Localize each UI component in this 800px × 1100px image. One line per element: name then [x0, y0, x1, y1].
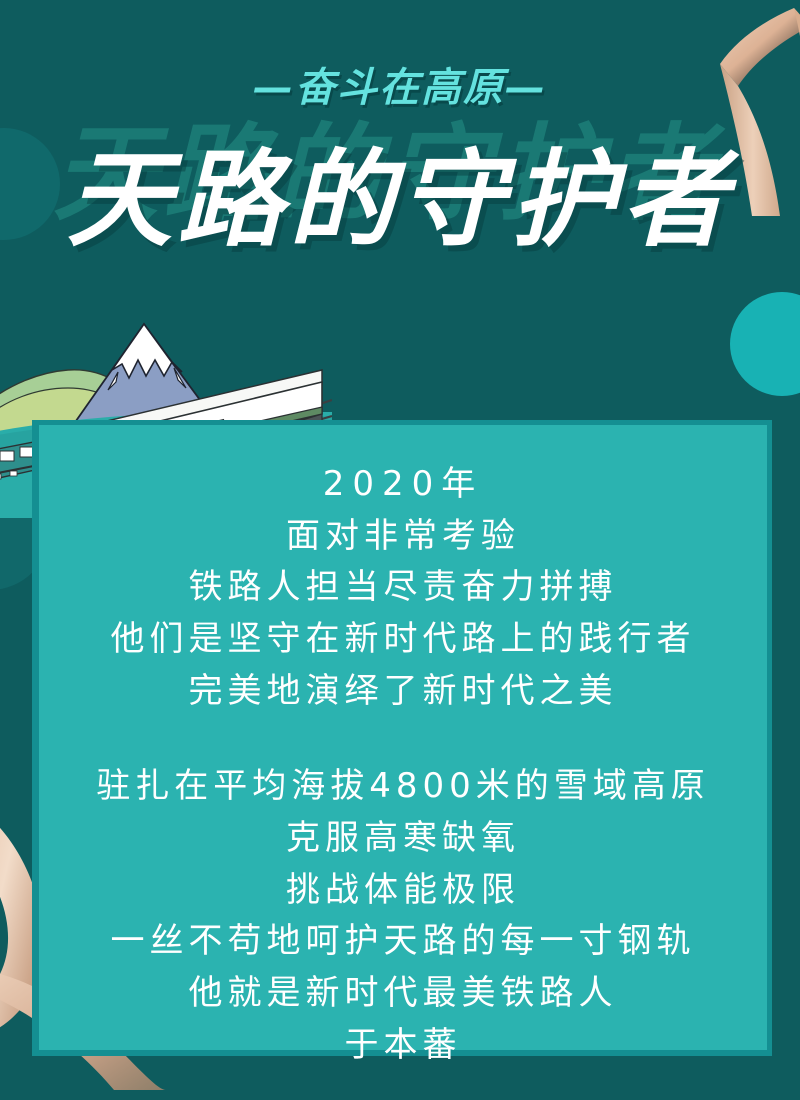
- body-line: 挑战体能极限: [55, 865, 751, 917]
- body-line: 他就是新时代最美铁路人: [55, 968, 751, 1020]
- body-line: 面对非常考验: [55, 511, 751, 563]
- headline-block: —奋斗在高原— 天路的守护者 天路的守护者: [0, 0, 800, 300]
- body-line: 2020年: [55, 459, 751, 511]
- body-line: 他们是坚守在新时代路上的践行者: [55, 614, 751, 666]
- decor-circle-right-mid: [730, 292, 800, 396]
- body-line-person-name: 于本蕃: [55, 1020, 751, 1072]
- body-line: 铁路人担当尽责奋力拼搏: [55, 562, 751, 614]
- body-line: 驻扎在平均海拔4800米的雪域高原: [55, 761, 751, 813]
- body-line: 克服高寒缺氧: [55, 813, 751, 865]
- page-title: 天路的守护者: [0, 140, 800, 261]
- poster-root: —奋斗在高原— 天路的守护者 天路的守护者: [0, 0, 800, 1100]
- paragraph-2: 驻扎在平均海拔4800米的雪域高原 克服高寒缺氧 挑战体能极限 一丝不苟地呵护天…: [55, 761, 751, 1071]
- body-line: 一丝不苟地呵护天路的每一寸钢轨: [55, 916, 751, 968]
- poster-subtitle: —奋斗在高原—: [0, 68, 800, 108]
- body-line: 完美地演绎了新时代之美: [55, 666, 751, 718]
- body-text-card: 2020年 面对非常考验 铁路人担当尽责奋力拼搏 他们是坚守在新时代路上的践行者…: [32, 420, 772, 1056]
- paragraph-1: 2020年 面对非常考验 铁路人担当尽责奋力拼搏 他们是坚守在新时代路上的践行者…: [55, 459, 751, 717]
- poster-title-wrap: 天路的守护者 天路的守护者: [0, 140, 800, 280]
- body-text-content: 2020年 面对非常考验 铁路人担当尽责奋力拼搏 他们是坚守在新时代路上的践行者…: [55, 459, 751, 1071]
